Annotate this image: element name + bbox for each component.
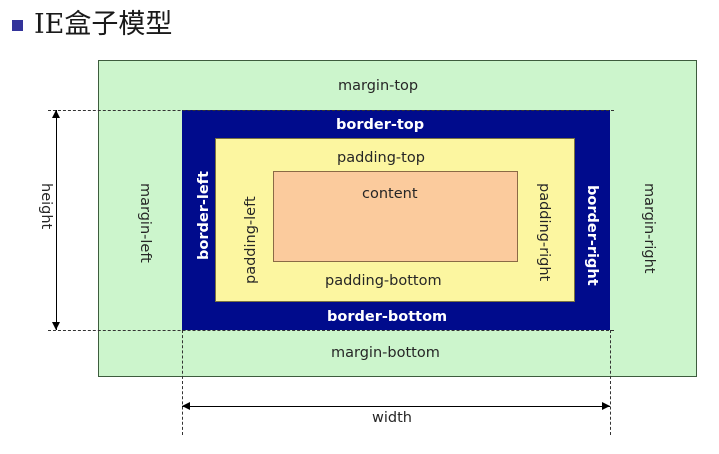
label-border-top: border-top	[336, 118, 424, 133]
label-margin-top: margin-top	[338, 79, 418, 94]
label-border-right: border-right	[585, 185, 600, 286]
label-content: content	[362, 187, 418, 202]
label-padding-left: padding-left	[244, 196, 259, 284]
label-border-bottom: border-bottom	[327, 310, 447, 325]
arrow-down-icon	[52, 322, 60, 330]
height-dimension-line	[56, 110, 57, 330]
guide-line-right	[610, 330, 611, 435]
label-padding-bottom: padding-bottom	[325, 274, 442, 289]
content-box-layer	[273, 171, 518, 262]
label-height: height	[39, 183, 54, 229]
label-padding-right: padding-right	[537, 183, 552, 281]
page-title-text: IE盒子模型	[34, 10, 172, 40]
arrow-left-icon	[182, 402, 190, 410]
arrow-right-icon	[602, 402, 610, 410]
label-margin-right: margin-right	[642, 183, 657, 273]
label-border-left: border-left	[197, 171, 212, 260]
guide-line-left	[182, 330, 183, 435]
label-margin-bottom: margin-bottom	[331, 346, 440, 361]
label-padding-top: padding-top	[337, 151, 425, 166]
bullet-icon	[12, 20, 23, 31]
guide-line-bottom	[48, 330, 614, 331]
arrow-up-icon	[52, 110, 60, 118]
page-title: IE盒子模型	[12, 10, 172, 40]
label-margin-left: margin-left	[138, 183, 153, 263]
guide-line-top	[48, 110, 614, 111]
label-width: width	[372, 411, 412, 426]
width-dimension-line	[182, 406, 610, 407]
